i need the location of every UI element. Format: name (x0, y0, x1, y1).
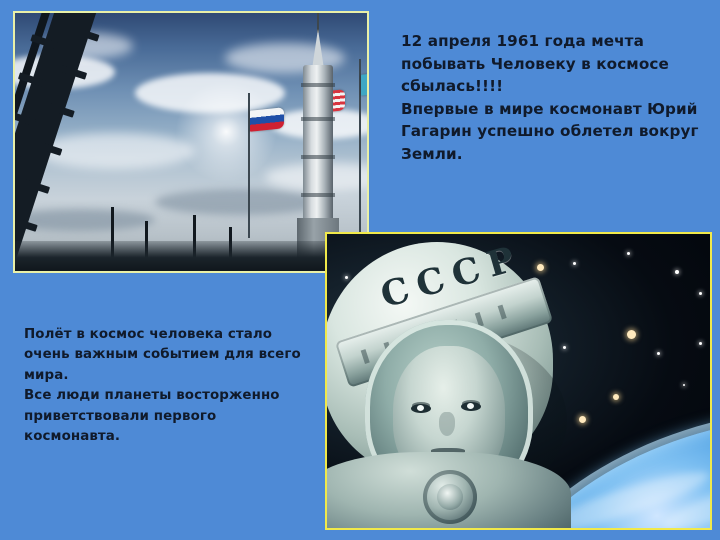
star (613, 394, 619, 400)
gantry-rung (15, 148, 24, 164)
star (699, 292, 702, 295)
cloud (155, 189, 325, 215)
star (627, 330, 636, 339)
suit-fitting (423, 470, 477, 524)
rocket-launch-photo (13, 11, 369, 273)
suit-fitting-cap (437, 484, 463, 510)
helmet-ring-notch (498, 305, 507, 320)
launch-pad-ground (15, 241, 367, 271)
star (657, 352, 660, 355)
eye-right (461, 402, 481, 411)
spacesuit-torso (327, 452, 571, 528)
star (537, 264, 544, 271)
star (699, 342, 702, 345)
helmet-ring-notch (361, 349, 370, 364)
star (573, 262, 576, 265)
star (675, 270, 679, 274)
flag-kazakhstan (361, 71, 367, 96)
rocket-band (301, 155, 335, 159)
rocket-photo-inner (15, 13, 367, 271)
star (563, 346, 566, 349)
rocket-band (301, 83, 335, 87)
intro-text-block: 12 апреля 1961 года мечта побывать Челов… (401, 30, 701, 165)
rocket-band (301, 193, 335, 197)
rocket-band (301, 117, 335, 121)
eye-glint (417, 405, 424, 411)
star (627, 252, 630, 255)
star (345, 276, 348, 279)
rocket-nose-cone (312, 29, 324, 69)
eye-glint (467, 403, 474, 409)
star (683, 384, 685, 386)
nose (439, 412, 455, 436)
star (579, 416, 586, 423)
significance-text-block: Полёт в космос человека стало очень важн… (24, 325, 314, 447)
presentation-slide: 12 апреля 1961 года мечта побывать Челов… (0, 0, 720, 540)
gagarin-portrait-photo: СССР (325, 232, 712, 530)
eye-left (411, 404, 431, 413)
flag-russia (250, 107, 284, 132)
cloud (135, 73, 285, 113)
gagarin-photo-inner: СССР (327, 234, 710, 528)
